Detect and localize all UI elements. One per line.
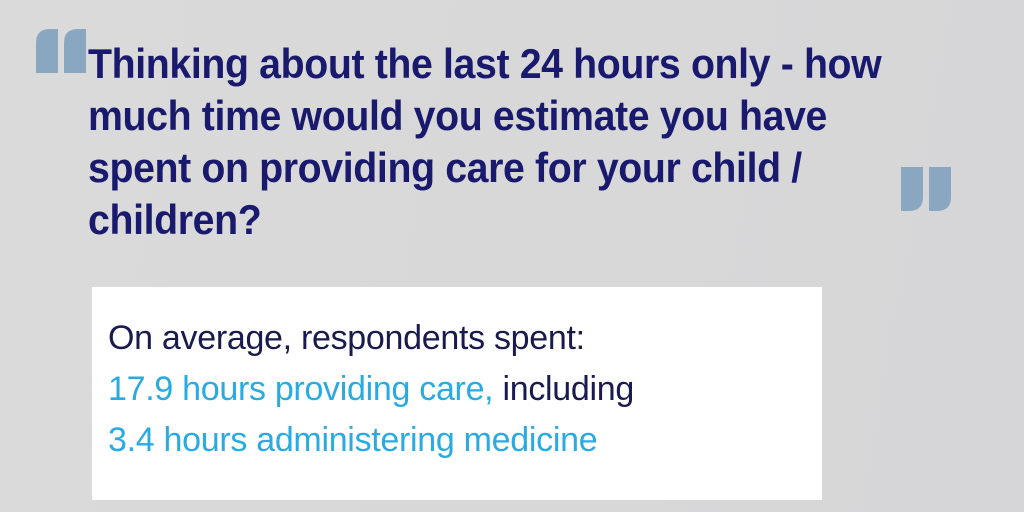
- quote-open-icon: [34, 27, 90, 73]
- page-title: Thinking about the last 24 hours only - …: [88, 38, 939, 246]
- care-hours-value: 17.9 hours providing care,: [108, 370, 493, 408]
- card-line-intro: On average, respondents spent:: [108, 313, 806, 364]
- intro-label: On average, respondents spent:: [108, 319, 585, 357]
- summary-card: On average, respondents spent: 17.9 hour…: [92, 287, 822, 500]
- care-suffix-label: including: [493, 370, 634, 408]
- survey-quote-slide: Thinking about the last 24 hours only - …: [0, 0, 1024, 512]
- card-line-medicine: 3.4 hours administering medicine: [108, 415, 806, 466]
- card-line-care: 17.9 hours providing care, including: [108, 364, 806, 415]
- medicine-hours-value: 3.4 hours administering medicine: [108, 421, 597, 459]
